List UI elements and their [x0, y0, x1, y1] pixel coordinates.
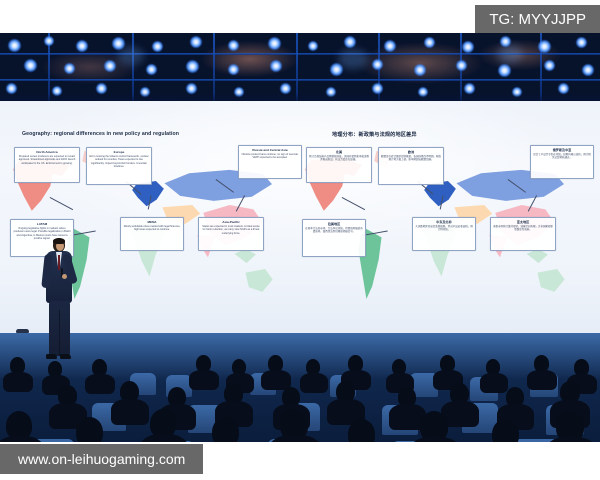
callout-heading: Europe: [89, 150, 149, 154]
light-flare: [498, 45, 522, 63]
audience-head: [348, 419, 375, 442]
stage-light: [308, 41, 318, 51]
audience-shoulders: [267, 435, 323, 442]
callout-body: 欧盟正在修订烟草控制框架，各国前景尚不明朗。税收预计将大幅上调，影响将超出欧盟范…: [381, 155, 441, 162]
stage-light: [186, 60, 199, 73]
callout-body: 大多数地区已出台监管规则，并对产品征收高税，预计将持续。: [415, 225, 473, 232]
stage-light: [372, 59, 383, 70]
audience-head: [76, 417, 103, 442]
presenter-shoe: [60, 354, 71, 359]
stage-light: [152, 41, 163, 52]
callout-heading: 中东及北非: [415, 220, 473, 224]
stage-lighting-truss: [0, 33, 600, 103]
presenter-leg-split: [59, 310, 60, 356]
landmass-australia: [240, 269, 274, 295]
callout-heading: Russia and Central Asia: [241, 148, 299, 152]
landmass-southeast-asia: [232, 249, 258, 265]
light-flare: [118, 47, 144, 65]
callout-north-america-cn: 北美 预计合规加热产品将继续获批，美国有望简化审批流程并推出新品。执法力度正在加…: [306, 147, 372, 183]
stage-light: [462, 41, 474, 53]
stage-light: [538, 40, 551, 53]
callout-body: States are expected in most markets. Lim…: [201, 225, 261, 235]
callout-heading: Asia-Pacific: [201, 220, 261, 224]
conference-photo: Geography: regional differences in new p…: [0, 33, 600, 442]
hall-wall-glow: [0, 333, 600, 379]
callout-body: 尼古丁产品禁令仍在持续，短期内难以逆转，预计相关法案将获通过。: [533, 153, 591, 160]
stage-light: [424, 37, 435, 48]
callout-body: 在原本合法的市场，立法争议持续。巴西和阿根廷有望放开，墨西哥法院已释放积极信号。: [305, 227, 363, 234]
callout-heading: LATAM: [13, 222, 71, 226]
callout-russia-cn: 俄罗斯及中亚 尼古丁产品禁令仍在持续，短期内难以逆转，预计相关法案将获通过。: [530, 145, 594, 179]
presenter-speaker: [42, 238, 76, 363]
callout-mena: MENA Mostly worldwide rules enacted with…: [120, 217, 184, 251]
audience-shoulders: [300, 373, 328, 393]
audience-shoulders: [189, 370, 219, 390]
callout-asia-pacific: Asia-Pacific States are expected in most…: [198, 217, 264, 251]
landmass-southeast-asia: [524, 249, 550, 265]
stage-light: [228, 40, 239, 51]
slide-right-title: 地理分布：新政策与法规的地区差异: [332, 131, 417, 138]
stage-light: [270, 60, 282, 72]
callout-latam-cn: 拉美地区 在原本合法的市场，立法争议持续。巴西和阿根廷有望放开，墨西哥法院已释放…: [302, 219, 366, 257]
callout-north-america: North America Prepared review producers …: [14, 147, 80, 183]
callout-russia-central-asia: Russia and Central Asia Nicotine product…: [238, 145, 302, 179]
audience-shoulders: [111, 399, 149, 425]
audience-seating: [0, 333, 600, 442]
stage-light: [8, 39, 21, 52]
stage-light: [146, 64, 157, 75]
stage-light: [104, 60, 116, 72]
callout-heading: 北美: [309, 150, 369, 154]
callout-body: 预计合规加热产品将继续获批，美国有望简化审批流程并推出新品。执法力度正在加强。: [309, 155, 369, 162]
slide-right-chinese: 地理分布：新政策与法规的地区差异 北美 预: [300, 101, 592, 349]
audience-shoulders: [527, 370, 557, 390]
truss-beam-horizontal: [0, 79, 600, 81]
audience-head: [492, 419, 519, 442]
stage-light: [544, 60, 555, 71]
callout-body: 多数市场预计维持现状，减害空间有限，许多国家视新型烟草为威胁。: [493, 225, 553, 232]
projection-screen: Geography: regional differences in new p…: [0, 101, 600, 349]
website-watermark: www.on-leihuogaming.com: [0, 444, 203, 474]
stage-light: [384, 40, 396, 52]
presenter-shoe: [46, 354, 57, 359]
callout-europe: Europe EU is revising the tobacco contro…: [86, 147, 152, 185]
stage-light: [456, 60, 467, 71]
audience-shoulders: [85, 374, 115, 394]
stage-light: [24, 59, 37, 72]
stage-light: [76, 40, 88, 52]
stage-light: [582, 64, 594, 76]
callout-body: Mostly worldwide rules enacted with lega…: [123, 225, 181, 232]
audience-shoulders: [480, 373, 508, 393]
stage-light: [344, 36, 356, 48]
callout-body: Prepared review producers are expected t…: [17, 155, 77, 165]
slide-left-title: Geography: regional differences in new p…: [22, 131, 179, 137]
audience-shoulders: [3, 372, 33, 392]
callout-body: EU is revising the tobacco control frame…: [89, 155, 149, 168]
callout-heading: 欧洲: [381, 150, 441, 154]
presenter-hair: [53, 238, 65, 244]
stage-light: [228, 64, 239, 75]
callout-apac-cn: 亚太地区 多数市场预计维持现状，减害空间有限，许多国家视新型烟草为威胁。: [490, 217, 556, 251]
callout-body: Nicotine product bans continue, no sign …: [241, 153, 299, 160]
callout-heading: 拉美地区: [305, 222, 363, 226]
light-flare: [338, 49, 368, 69]
stage-light: [64, 63, 75, 74]
callout-heading: MENA: [123, 220, 181, 224]
screenshot-root: Geography: regional differences in new p…: [0, 0, 600, 480]
audience-head: [212, 417, 239, 442]
stage-light: [498, 64, 511, 77]
callout-heading: 亚太地区: [493, 220, 553, 224]
presenter-tie: [58, 255, 60, 270]
stage-light: [576, 37, 587, 48]
callout-heading: North America: [17, 150, 77, 154]
callout-mena-cn: 中东及北非 大多数地区已出台监管规则，并对产品征收高税，预计将持续。: [412, 217, 476, 251]
stage-light: [44, 36, 54, 46]
callout-heading: 俄罗斯及中亚: [533, 148, 591, 152]
presenter-hand: [62, 274, 67, 279]
stage-light: [414, 64, 426, 76]
callout-europe-cn: 欧洲 欧盟正在修订烟草控制框架，各国前景尚不明朗。税收预计将大幅上调，影响将超出…: [378, 147, 444, 185]
audience-shoulders: [138, 434, 190, 442]
stage-light: [268, 37, 281, 50]
stage-light: [190, 36, 202, 48]
landmass-australia: [532, 269, 566, 295]
telegram-watermark: TG: MYYJJPP: [475, 5, 600, 33]
